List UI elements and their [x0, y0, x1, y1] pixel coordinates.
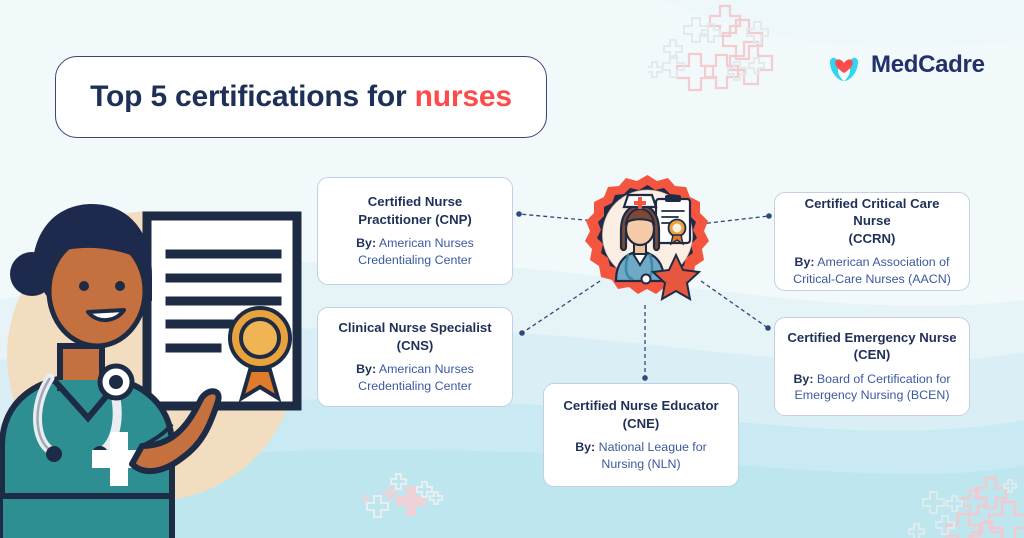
card-title: Certified Nurse Educator (CNE): [556, 397, 726, 432]
card-title-line1: Certified Emergency Nurse: [787, 330, 956, 345]
certification-card-cen[interactable]: Certified Emergency Nurse (CEN) By: Boar…: [774, 317, 970, 416]
card-title: Certified Nurse Practitioner (CNP): [330, 193, 500, 228]
card-title-line1: Certified Nurse: [368, 194, 463, 209]
card-title-line2: Practitioner (CNP): [358, 212, 472, 227]
card-title: Certified Emergency Nurse (CEN): [787, 329, 957, 364]
card-by-label: By:: [795, 255, 815, 269]
card-title: Clinical Nurse Specialist (CNS): [330, 319, 500, 354]
certified-nurse-badge: [580, 173, 715, 310]
card-by-label: By:: [793, 372, 813, 386]
card-title-line1: Clinical Nurse Specialist: [338, 320, 491, 335]
card-issuer-line1: National League for: [595, 440, 707, 454]
infographic-canvas: Top 5 certifications for nurses MedCadre: [0, 0, 1024, 538]
card-issuer-line1: American Nurses: [376, 236, 474, 250]
card-issuer-line2: Credentialing Center: [358, 379, 472, 393]
card-issuer-line2: Nursing (NLN): [601, 457, 680, 471]
card-issuer-line2: Emergency Nursing (BCEN): [795, 388, 950, 402]
card-by-label: By:: [356, 236, 376, 250]
card-issuer-line1: American Nurses: [376, 362, 474, 376]
card-issuer-line1: American Association of: [814, 255, 949, 269]
card-title-line2: (CNE): [623, 416, 660, 431]
card-title-line2: (CCRN): [849, 231, 896, 246]
card-title-line2: (CNS): [397, 338, 434, 353]
card-title-line1: Certified Critical Care Nurse: [805, 196, 940, 228]
certification-card-cne[interactable]: Certified Nurse Educator (CNE) By: Natio…: [543, 383, 739, 487]
card-issuer-line2: Credentialing Center: [358, 253, 472, 267]
card-issuer: By: American Nurses Credentialing Center: [330, 235, 500, 269]
card-title-line2: (CEN): [854, 347, 891, 362]
card-issuer-line1: Board of Certification for: [813, 372, 950, 386]
certification-card-cns[interactable]: Clinical Nurse Specialist (CNS) By: Amer…: [317, 307, 513, 407]
certificate-document: [147, 216, 297, 406]
card-title: Certified Critical Care Nurse (CCRN): [787, 195, 957, 247]
nurse-illustration: [0, 196, 332, 538]
card-issuer: By: American Association of Critical-Car…: [787, 254, 957, 288]
card-by-label: By:: [356, 362, 376, 376]
card-issuer-line2: Critical-Care Nurses (AACN): [793, 272, 951, 286]
certification-card-cnp[interactable]: Certified Nurse Practitioner (CNP) By: A…: [317, 177, 513, 285]
certification-card-ccrn[interactable]: Certified Critical Care Nurse (CCRN) By:…: [774, 192, 970, 291]
card-by-label: By:: [575, 440, 595, 454]
card-title-line1: Certified Nurse Educator: [563, 398, 718, 413]
card-issuer: By: Board of Certification for Emergency…: [787, 371, 957, 405]
card-issuer: By: American Nurses Credentialing Center: [330, 361, 500, 395]
card-issuer: By: National League for Nursing (NLN): [556, 439, 726, 473]
